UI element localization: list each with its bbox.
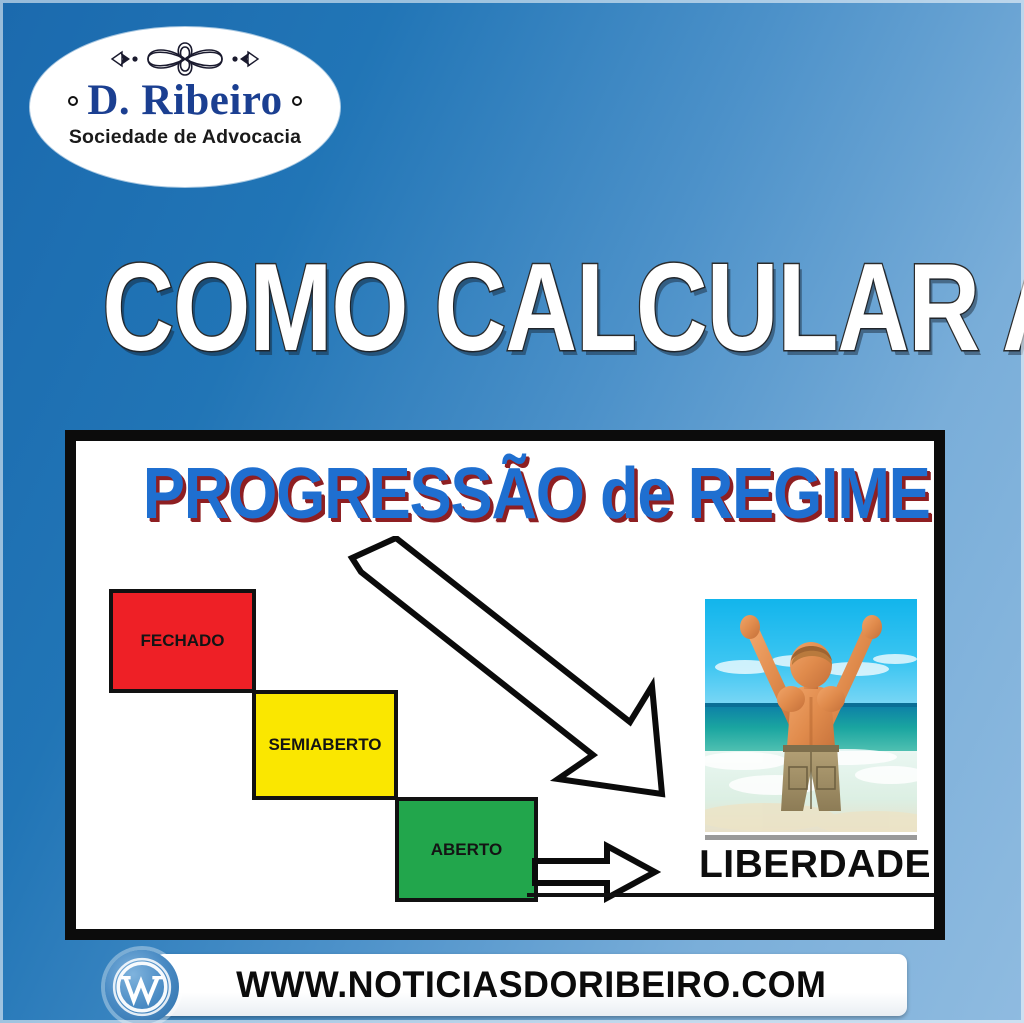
wordpress-icon[interactable]: [105, 950, 179, 1023]
regime-box-fechado: FECHADO: [109, 589, 256, 693]
wordpress-glyph: [111, 956, 173, 1018]
logo-dot-right: [292, 96, 302, 106]
man-with-raised-arms-on-beach-photo: [705, 599, 917, 832]
brand-name-row: D. Ribeiro: [68, 79, 301, 122]
panel-subheading: PROGRESSÃO de REGIME,: [143, 458, 887, 530]
regime-label-fechado: FECHADO: [140, 631, 224, 651]
outcome-label: LIBERDADE: [690, 843, 940, 887]
logo-dot-left: [68, 96, 78, 106]
regime-box-aberto: ABERTO: [395, 797, 538, 902]
content-panel: PROGRESSÃO de REGIME, FECHADO SEMIABERTO…: [65, 430, 945, 940]
brand-tagline: Sociedade de Advocacia: [69, 126, 301, 149]
brand-name: D. Ribeiro: [87, 79, 282, 122]
page-title: COMO CALCULAR A:: [102, 246, 921, 370]
website-url: WWW.NOTICIASDORIBEIRO.COM: [236, 964, 826, 1006]
photo-underline: [705, 835, 917, 840]
panel-inner: PROGRESSÃO de REGIME, FECHADO SEMIABERTO…: [76, 441, 934, 929]
diagonal-down-right-arrow-icon: [344, 536, 674, 811]
liberty-photo-container: [705, 599, 917, 841]
regime-label-aberto: ABERTO: [431, 840, 502, 860]
brand-logo: D. Ribeiro Sociedade de Advocacia: [30, 27, 340, 187]
panel-baseline-rule: [527, 893, 941, 897]
website-url-bar[interactable]: WWW.NOTICIASDORIBEIRO.COM: [155, 954, 907, 1016]
ornamental-flourish-icon: [90, 41, 280, 77]
poster-canvas: D. Ribeiro Sociedade de Advocacia COMO C…: [0, 0, 1024, 1023]
